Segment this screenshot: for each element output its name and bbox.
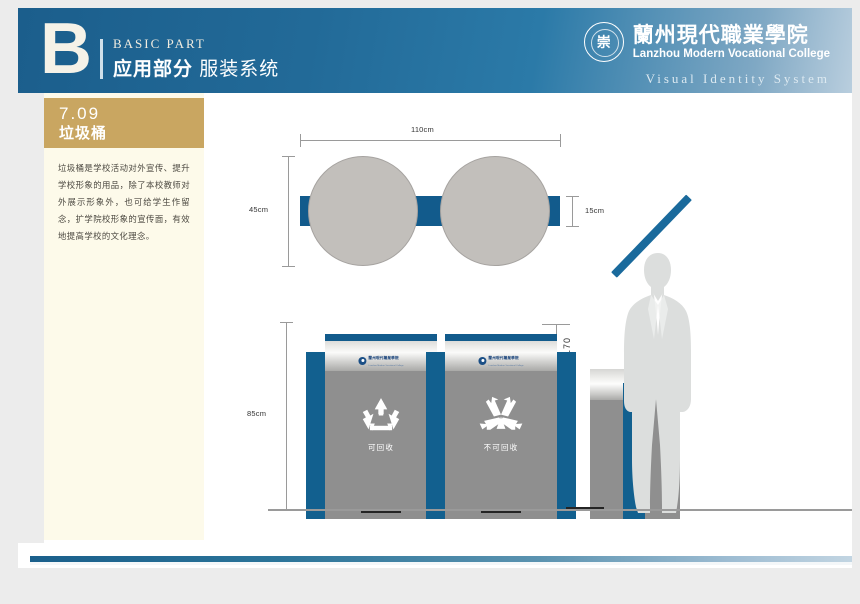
- bin-logo-name-cn: 蘭州現代職業學院: [368, 356, 398, 360]
- bin-unit-non-recyclable: 蘭州現代職業學院 Lanzhou Modern Vocational Colle…: [445, 334, 557, 519]
- bin-unit-recyclable: 蘭州現代職業學院 Lanzhou Modern Vocational Colle…: [325, 334, 437, 519]
- front-height-label: 85cm: [244, 409, 269, 418]
- plan-height-label: 45cm: [246, 205, 271, 214]
- recycle-icon: [358, 396, 404, 436]
- plan-band-label: 15cm: [582, 206, 607, 215]
- plan-bin-circle-right: [440, 156, 550, 266]
- plan-height-tick-top: [282, 156, 295, 157]
- bin-logo: 蘭州現代職業學院 Lanzhou Modern Vocational Colle…: [478, 353, 523, 368]
- bin-logo: 蘭州現代職業學院 Lanzhou Modern Vocational Colle…: [358, 353, 403, 368]
- bin-post-left: [306, 352, 325, 519]
- front-height-dim-line: [286, 322, 287, 509]
- school-name-cn: 蘭州現代職業學院: [633, 23, 830, 47]
- lid-dim-tick-top: [542, 324, 570, 325]
- non-recycle-icon: [478, 396, 524, 436]
- plan-band-tick-top: [566, 196, 579, 197]
- plan-band-tick-bottom: [566, 226, 579, 227]
- page-header: B BASIC PART 应用部分 服装系统 崇 蘭州現代職業學院 Lanzho…: [18, 8, 852, 93]
- bin-lid-top-strip: [325, 334, 437, 341]
- sidebar-description: 垃圾桶是学校活动对外宣传、提升学校形象的用品，除了本校教师对外展示形象外，也可给…: [44, 160, 204, 245]
- header-logo-block: 崇 蘭州現代職業學院 Lanzhou Modern Vocational Col…: [584, 22, 830, 87]
- header-divider: [100, 39, 103, 79]
- bin-logo-seal-icon: [358, 357, 366, 365]
- sidebar-section-number: 7.09: [59, 104, 204, 124]
- sidebar-heading-box: 7.09 垃圾桶: [44, 98, 204, 148]
- school-logo: 崇 蘭州現代職業學院 Lanzhou Modern Vocational Col…: [584, 22, 830, 62]
- section-title-en: BASIC PART: [113, 36, 279, 52]
- bin-post-left: [426, 352, 445, 519]
- bin-lid-top-strip: [445, 334, 557, 341]
- school-seal-icon: 崇: [584, 22, 624, 62]
- ground-line: [268, 509, 852, 511]
- footer-shadow: [30, 562, 852, 565]
- header-section-block: B BASIC PART 应用部分 服装系统: [34, 8, 279, 93]
- section-title-cn-secondary: 服装系统: [199, 59, 279, 80]
- bin-logo-name-en: Lanzhou Modern Vocational College: [368, 365, 403, 367]
- plan-height-tick-bottom: [282, 266, 295, 267]
- bin-logo-name-cn: 蘭州現代職業學院: [488, 356, 518, 360]
- bin-logo-seal-icon: [478, 357, 486, 365]
- drawing-canvas: 110cm 45cm 15cm 85cm 170: [210, 96, 852, 546]
- section-title-cn: 应用部分 服装系统: [113, 54, 279, 81]
- school-name-en: Lanzhou Modern Vocational College: [633, 47, 830, 61]
- vis-tagline: Visual Identity System: [584, 71, 830, 87]
- section-title-cn-primary: 应用部分: [113, 59, 193, 80]
- plan-width-dim-line: [300, 140, 560, 141]
- sidebar-gutter: [18, 93, 44, 543]
- header-title-group: BASIC PART 应用部分 服装系统: [113, 36, 279, 93]
- sidebar-section-title: 垃圾桶: [59, 124, 204, 143]
- bin-caption: 不可回收: [445, 442, 557, 453]
- plan-bin-circle-left: [308, 156, 418, 266]
- bin-post-right: [557, 352, 576, 519]
- bin-caption: 可回收: [325, 442, 437, 453]
- section-letter: B: [34, 13, 90, 93]
- page-root: B BASIC PART 应用部分 服装系统 崇 蘭州現代職業學院 Lanzho…: [0, 0, 860, 604]
- plan-band-dim-line: [572, 196, 573, 226]
- front-height-tick-top: [280, 322, 293, 323]
- plan-view: [300, 156, 560, 266]
- person-silhouette-icon: [612, 249, 704, 519]
- seal-glyph: 崇: [585, 23, 623, 61]
- plan-width-label: 110cm: [408, 125, 437, 134]
- school-name-group: 蘭州現代職業學院 Lanzhou Modern Vocational Colle…: [633, 23, 830, 61]
- plan-width-tick-right: [560, 134, 561, 147]
- plan-height-dim-line: [288, 156, 289, 266]
- front-view: 85cm 170 蘭州現代職業學院 Lanzhou Modern Vocati: [210, 306, 710, 521]
- bin-logo-name-en: Lanzhou Modern Vocational College: [488, 365, 523, 367]
- plan-width-tick-left: [300, 134, 301, 147]
